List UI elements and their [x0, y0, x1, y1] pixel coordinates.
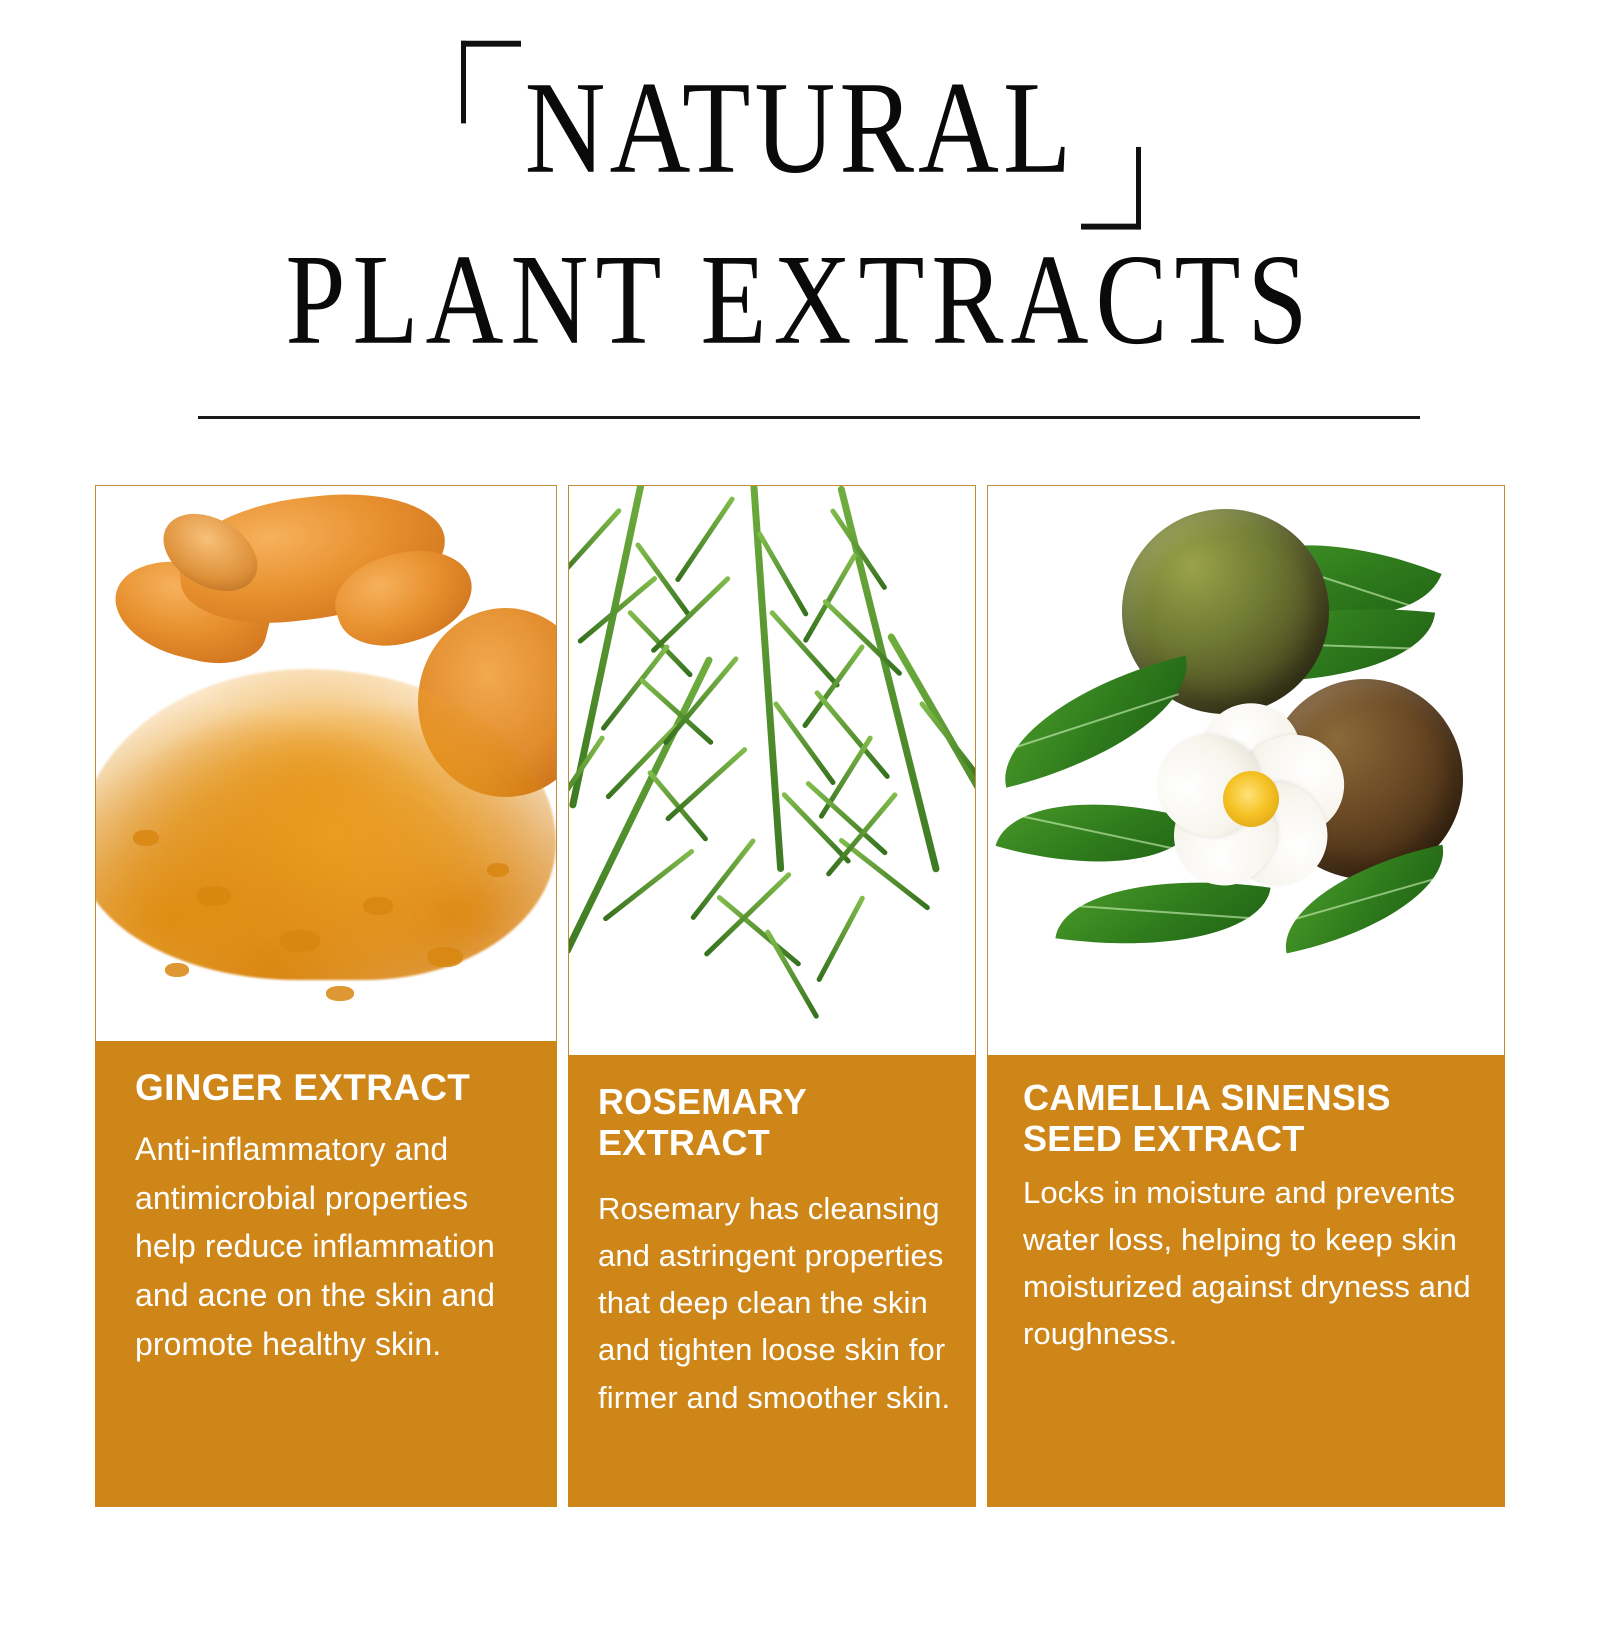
rosemary-title: ROSEMARY EXTRACT [598, 1081, 962, 1163]
rosemary-photo [568, 485, 976, 1055]
ingredient-card-camellia: CAMELLIA SINENSIS SEED EXTRACT Locks in … [987, 485, 1505, 1507]
corner-bracket-bottom-right-icon [1081, 147, 1141, 230]
camellia-illustration [988, 486, 1504, 1055]
ginger-text-panel: GINGER EXTRACT Anti-inflammatory and ant… [95, 1041, 557, 1507]
camellia-title: CAMELLIA SINENSIS SEED EXTRACT [1023, 1077, 1487, 1159]
camellia-description: Locks in moisture and prevents water los… [1023, 1169, 1487, 1357]
rosemary-text-panel: ROSEMARY EXTRACT Rosemary has cleansing … [568, 1055, 976, 1507]
rosemary-illustration [569, 486, 975, 1055]
title-divider [198, 416, 1420, 419]
corner-bracket-top-left-icon [461, 41, 521, 124]
ginger-description: Anti-inflammatory and antimicrobial prop… [135, 1125, 529, 1368]
title-block: NATURAL PLANT EXTRACTS [0, 62, 1600, 344]
page-title-primary-text: NATURAL [525, 55, 1076, 201]
rosemary-description: Rosemary has cleansing and astringent pr… [598, 1185, 962, 1421]
ginger-title: GINGER EXTRACT [135, 1067, 529, 1109]
infographic-page: NATURAL PLANT EXTRACTS [0, 0, 1600, 1652]
camellia-flower [1143, 691, 1360, 907]
ingredient-card-rosemary: ROSEMARY EXTRACT Rosemary has cleansing … [568, 485, 976, 1507]
page-title-secondary: PLANT EXTRACTS [0, 236, 1600, 366]
page-header: NATURAL PLANT EXTRACTS [0, 0, 1600, 440]
camellia-text-panel: CAMELLIA SINENSIS SEED EXTRACT Locks in … [987, 1055, 1505, 1507]
ginger-photo [95, 485, 557, 1041]
ingredient-card-list: GINGER EXTRACT Anti-inflammatory and ant… [95, 485, 1505, 1507]
ginger-illustration [96, 486, 556, 1041]
page-title-primary: NATURAL [473, 62, 1128, 194]
ingredient-card-ginger: GINGER EXTRACT Anti-inflammatory and ant… [95, 485, 557, 1507]
camellia-photo [987, 485, 1505, 1055]
